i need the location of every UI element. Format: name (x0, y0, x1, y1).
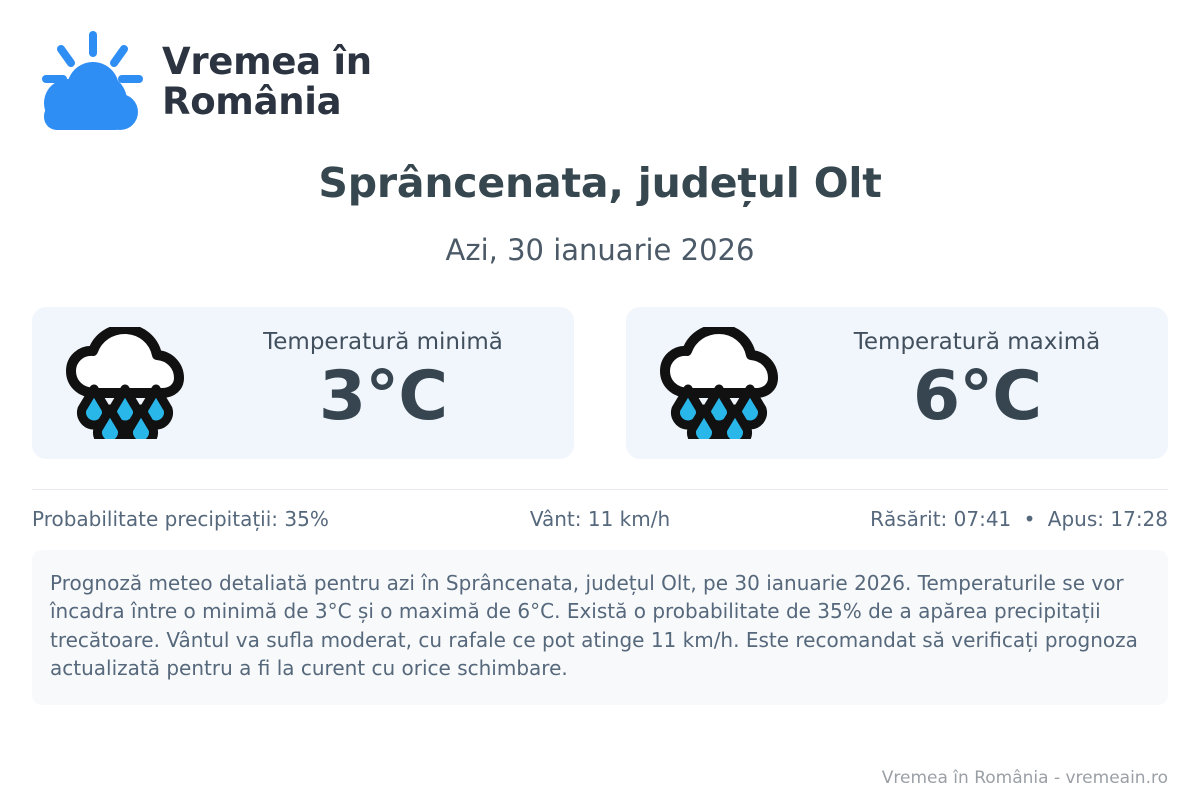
rain-cloud-icon (66, 327, 184, 439)
brand-line-1: Vremea în (162, 42, 372, 82)
temperature-min-card: Temperatură minimă 3°C (32, 307, 574, 459)
stats-divider (32, 489, 1168, 490)
temperature-max-body: Temperatură maximă 6°C (804, 330, 1150, 435)
wind-stat: Vânt: 11 km/h (411, 507, 790, 531)
sun-times-separator: • (1018, 507, 1042, 531)
site-brand[interactable]: Vremea în România (32, 0, 1168, 118)
precipitation-stat: Probabilitate precipitații: 35% (32, 507, 411, 531)
brand-wordmark: Vremea în România (162, 42, 372, 122)
page-title: Sprâncenata, județul Olt (32, 159, 1168, 207)
temperature-min-body: Temperatură minimă 3°C (210, 330, 556, 435)
temperature-min-label: Temperatură minimă (263, 330, 503, 355)
forecast-description: Prognoză meteo detaliată pentru azi în S… (32, 550, 1168, 705)
site-footer: Vremea în România - vremeain.ro (882, 768, 1168, 788)
sunrise-value: Răsărit: 07:41 (870, 507, 1011, 531)
sun-times-stat: Răsărit: 07:41 • Apus: 17:28 (789, 507, 1168, 531)
sunset-value: Apus: 17:28 (1048, 507, 1168, 531)
temperature-max-label: Temperatură maximă (854, 330, 1100, 355)
sun-behind-cloud-icon (32, 30, 144, 134)
weather-page: Vremea în România Sprâncenata, județul O… (0, 0, 1200, 800)
rain-cloud-icon (660, 327, 778, 439)
page-subtitle: Azi, 30 ianuarie 2026 (32, 233, 1168, 267)
temperature-max-card: Temperatură maximă 6°C (626, 307, 1168, 459)
brand-line-2: România (162, 82, 372, 122)
temperature-max-value: 6°C (913, 358, 1041, 436)
temperature-min-value: 3°C (319, 358, 447, 436)
weather-stats-row: Probabilitate precipitații: 35% Vânt: 11… (32, 507, 1168, 531)
temperature-cards: Temperatură minimă 3°C Temperatură maxim… (32, 307, 1168, 459)
